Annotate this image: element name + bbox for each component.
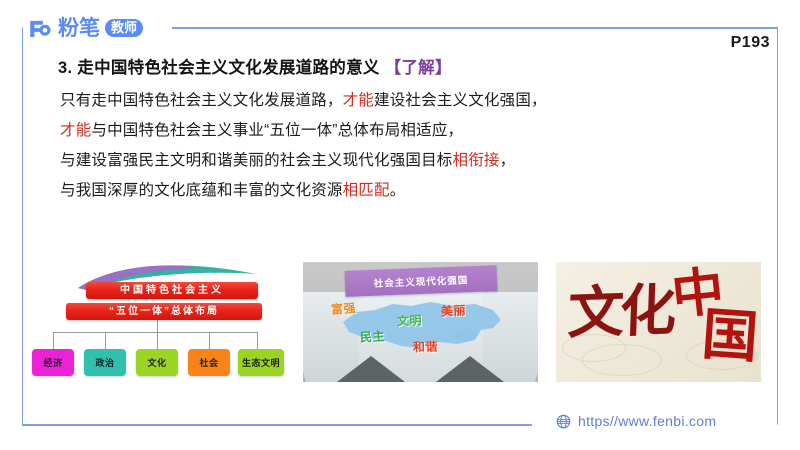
figure-row: 中国特色社会主义 “五位一体”总体布局 经济 政治 文化 社会 生态文明 社会主…: [22, 262, 778, 384]
figure-wuweiyiti-diagram: 中国特色社会主义 “五位一体”总体布局 经济 政治 文化 社会 生态文明: [24, 262, 286, 382]
footer-url-text: https//www.fenbi.com: [578, 413, 716, 429]
connector-drop-4: [257, 332, 258, 349]
line2-part-b: 与中国特色社会主义事业“五位一体”总体布局相适应，: [91, 122, 463, 139]
podium-shadow-right: [436, 356, 504, 382]
line3-part-a: 与建设富强民主文明和谐美丽的社会主义现代化强国目标: [60, 152, 453, 169]
banner-wuweiyiti: “五位一体”总体布局: [66, 303, 262, 320]
line3-part-b: ，: [500, 152, 516, 169]
brand-tag: 教师: [105, 19, 143, 37]
body-line-1: 只有走中国特色社会主义文化发展道路，才能建设社会主义文化强国，: [60, 88, 547, 110]
figure-qiangguo-image: 社会主义现代化强国 富强 民主 文明 美丽 和谐: [303, 262, 538, 382]
box-shehui: 社会: [188, 349, 230, 376]
line4-part-b: 。: [390, 182, 406, 199]
podium-shadow-left: [337, 356, 405, 382]
word-minzhu: 民主: [360, 327, 386, 345]
connector-drop-0: [53, 332, 54, 349]
figure-wenhua-zhongguo-calligraphy: 文化 中 国: [556, 262, 761, 382]
heading-bracket-tag: 【了解】: [385, 59, 452, 77]
line4-highlight: 相匹配: [343, 182, 390, 199]
footer-website-link[interactable]: https//www.fenbi.com: [556, 413, 716, 429]
word-fuqiang: 富强: [330, 299, 356, 318]
page-number: P193: [731, 34, 770, 52]
box-shengtaiwenming: 生态文明: [238, 349, 284, 376]
connector-drop-2: [157, 332, 158, 349]
word-wenming: 文明: [397, 312, 423, 330]
connector-horizontal: [53, 332, 257, 333]
connector-stem: [157, 320, 158, 332]
box-wenhua: 文化: [136, 349, 178, 376]
line1-part-a: 只有走中国特色社会主义文化发展道路，: [60, 92, 343, 109]
word-meili: 美丽: [441, 301, 467, 319]
body-line-3: 与建设富强民主文明和谐美丽的社会主义现代化强国目标相衔接，: [60, 148, 515, 170]
word-hexie: 和谐: [413, 338, 439, 356]
heading-number: 3.: [58, 59, 72, 77]
box-zhengzhi: 政治: [84, 349, 126, 376]
header-divider-rule: [172, 27, 778, 29]
cloud-motif-2: [582, 344, 662, 376]
calligraphy-wenhua: 文化: [567, 282, 673, 342]
line4-part-a: 与我国深厚的文化底蕴和丰富的文化资源: [60, 182, 343, 199]
body-line-2: 才能与中国特色社会主义事业“五位一体”总体布局相适应，: [60, 118, 463, 140]
fb-logo-icon: [26, 15, 53, 42]
line2-highlight: 才能: [60, 122, 91, 139]
brand-logo: 粉笔 教师: [26, 14, 143, 42]
connector-drop-3: [209, 332, 210, 349]
page-title: 3. 走中国特色社会主义文化发展道路的意义 【了解】: [58, 54, 452, 78]
line1-highlight: 才能: [343, 92, 374, 109]
line1-part-b: 建设社会主义文化强国，: [374, 92, 547, 109]
calligraphy-guo: 国: [700, 306, 760, 366]
footer-divider-rule: [22, 424, 532, 426]
brand-name: 粉笔: [58, 18, 100, 39]
banner-zhongguotese: 中国特色社会主义: [86, 282, 258, 299]
body-line-4: 与我国深厚的文化底蕴和丰富的文化资源相匹配。: [60, 178, 405, 200]
connector-drop-1: [105, 332, 106, 349]
line3-highlight: 相衔接: [453, 152, 500, 169]
globe-icon: [556, 414, 571, 429]
box-jingji: 经济: [32, 349, 74, 376]
heading-text: 走中国特色社会主义文化发展道路的意义: [77, 59, 379, 77]
